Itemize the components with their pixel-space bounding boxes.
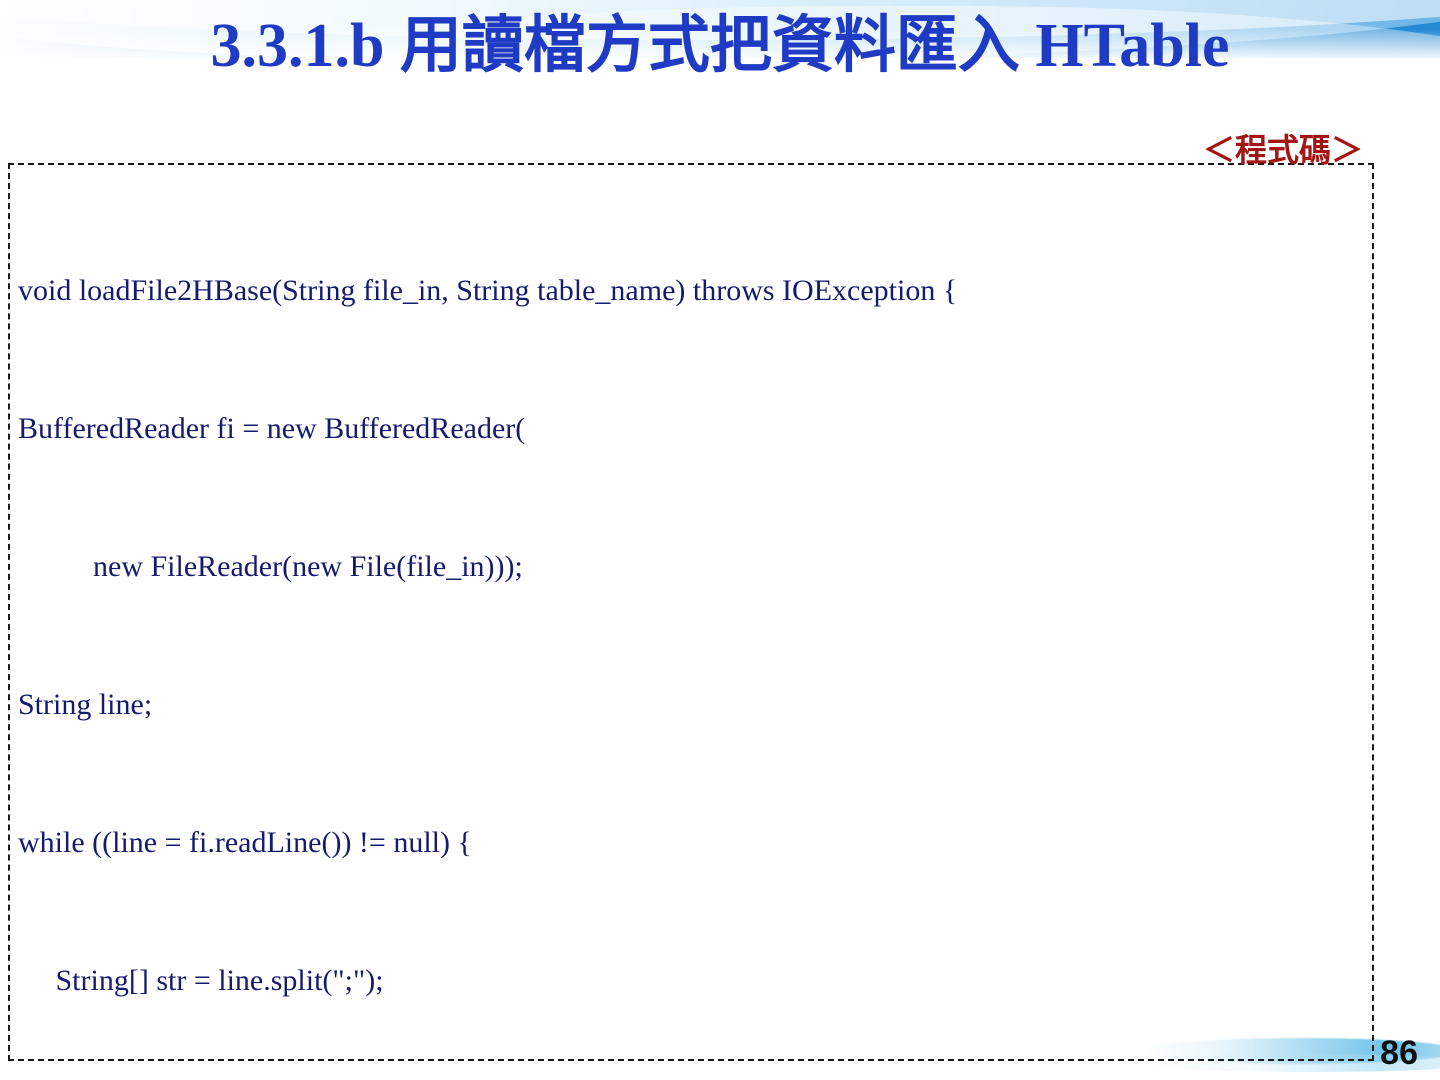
page-title: 3.3.1.b 用讀檔方式把資料匯入 HTable [36, 8, 1404, 84]
code-line: void loadFile2HBase(String file_in, Stri… [18, 268, 1358, 314]
code-line: new FileReader(new File(file_in))); [18, 544, 1358, 590]
code-listing: void loadFile2HBase(String file_in, Stri… [18, 176, 1358, 1080]
code-line: BufferedReader fi = new BufferedReader( [18, 406, 1358, 452]
code-callout-label: ＜程式碼＞ [1190, 126, 1376, 174]
page-number: 86 [1380, 1034, 1418, 1072]
code-line: while ((line = fi.readLine()) != null) { [18, 820, 1358, 866]
code-line: String[] str = line.split(";"); [18, 958, 1358, 1004]
slide-canvas: 3.3.1.b 用讀檔方式把資料匯入 HTable ＜程式碼＞ void loa… [0, 0, 1440, 1080]
code-line: String line; [18, 682, 1358, 728]
